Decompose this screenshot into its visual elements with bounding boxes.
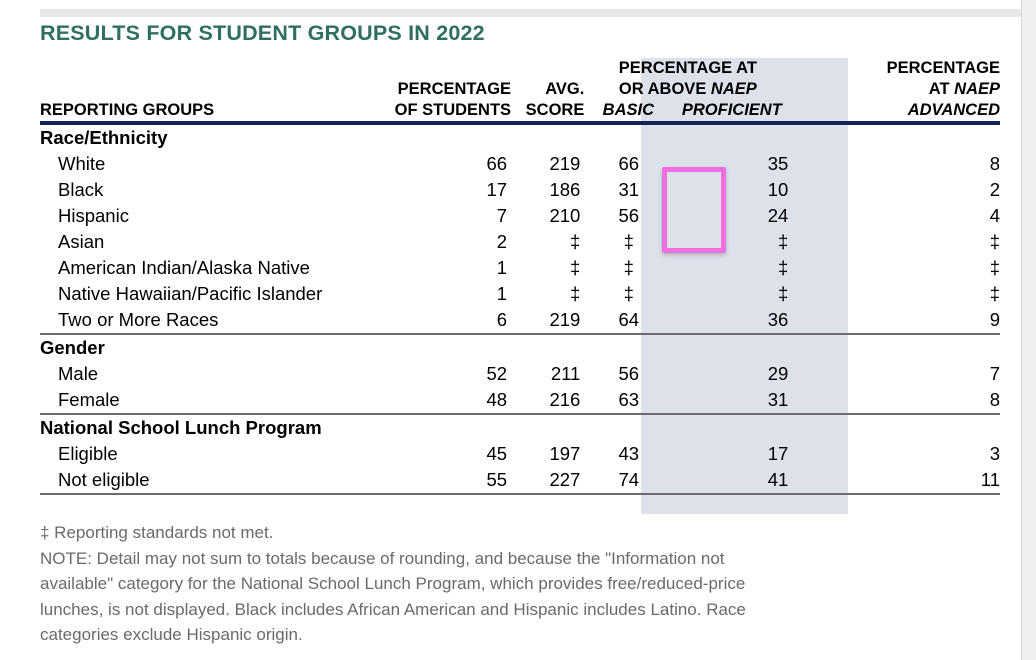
cell-percentage-of-students: 6 xyxy=(395,307,511,333)
note-line-5: categories exclude Hispanic origin. xyxy=(40,622,990,648)
row-label: Asian xyxy=(40,229,395,255)
cell-basic: ‡ xyxy=(584,229,673,255)
col-header-reporting-groups-label: REPORTING GROUPS xyxy=(40,100,395,121)
cell-advanced: 8 xyxy=(793,151,1000,177)
pct-students-line2: OF STUDENTS xyxy=(395,100,511,121)
cell-avg-score: 219 xyxy=(511,151,584,177)
section-header-empty-cell xyxy=(511,123,584,151)
section-header-row: Race/Ethnicity xyxy=(40,123,1000,151)
at-or-above-line2-text: OR ABOVE xyxy=(619,80,706,98)
cell-avg-score: ‡ xyxy=(511,281,584,307)
row-label: Hispanic xyxy=(40,203,395,229)
table-row: Male5221156297 xyxy=(40,361,1000,387)
section-header-empty-cell xyxy=(673,123,793,151)
cell-basic: 63 xyxy=(584,387,673,413)
cell-advanced: 11 xyxy=(793,467,1000,493)
cell-advanced: 3 xyxy=(793,441,1000,467)
cell-avg-score: 216 xyxy=(511,387,584,413)
page-title: RESULTS FOR STUDENT GROUPS IN 2022 xyxy=(40,21,485,46)
col-header-avg-score: AVG. SCORE xyxy=(511,58,584,121)
note-line-3: available" category for the National Sch… xyxy=(40,571,990,597)
header-row: REPORTING GROUPS PERCENTAGE OF STUDENTS … xyxy=(40,58,1000,121)
cell-advanced: 2 xyxy=(793,177,1000,203)
row-label: Not eligible xyxy=(40,467,395,493)
table-row: Two or More Races621964369 xyxy=(40,307,1000,333)
cell-avg-score: 197 xyxy=(511,441,584,467)
naep-italic-1: NAEP xyxy=(711,80,757,98)
table-row: Asian2‡‡‡‡ xyxy=(40,229,1000,255)
advanced-line1: PERCENTAGE xyxy=(793,58,1000,79)
col-header-proficient: PROFICIENT xyxy=(672,100,791,121)
section-header-empty-cell xyxy=(395,334,511,361)
cell-proficient: ‡ xyxy=(673,255,793,281)
section-header-empty-cell xyxy=(584,414,673,441)
col-header-reporting-groups: REPORTING GROUPS xyxy=(40,58,395,121)
note-line-4: lunches, is not displayed. Black include… xyxy=(40,597,990,623)
section-header-row: National School Lunch Program xyxy=(40,414,1000,441)
cell-proficient: 17 xyxy=(673,441,793,467)
table-row: Not eligible55227744111 xyxy=(40,467,1000,493)
col-header-percentage-of-students: PERCENTAGE OF STUDENTS xyxy=(395,58,511,121)
cell-advanced: ‡ xyxy=(793,281,1000,307)
cell-advanced: 9 xyxy=(793,307,1000,333)
section-header-empty-cell xyxy=(511,334,584,361)
cell-advanced: ‡ xyxy=(793,255,1000,281)
cell-avg-score: 210 xyxy=(511,203,584,229)
cell-advanced: 7 xyxy=(793,361,1000,387)
row-label: Male xyxy=(40,361,395,387)
section-label: Gender xyxy=(40,334,395,361)
cell-percentage-of-students: 66 xyxy=(395,151,511,177)
row-label: American Indian/Alaska Native xyxy=(40,255,395,281)
table-row: White6621966358 xyxy=(40,151,1000,177)
section-header-empty-cell xyxy=(673,334,793,361)
naep-italic-2: NAEP xyxy=(954,80,1000,98)
cell-percentage-of-students: 52 xyxy=(395,361,511,387)
cell-percentage-of-students: 2 xyxy=(395,229,511,255)
document-page: RESULTS FOR STUDENT GROUPS IN 2022 REPOR… xyxy=(0,0,1036,660)
section-header-row: Gender xyxy=(40,334,1000,361)
cell-basic: ‡ xyxy=(584,255,673,281)
advanced-line2-text: AT xyxy=(929,80,950,98)
cell-avg-score: 211 xyxy=(511,361,584,387)
cell-basic: 56 xyxy=(584,203,673,229)
cell-advanced: ‡ xyxy=(793,229,1000,255)
cell-proficient: 41 xyxy=(673,467,793,493)
table-body: Race/EthnicityWhite6621966358Black171863… xyxy=(40,123,1000,494)
table-row: Black1718631102 xyxy=(40,177,1000,203)
cell-avg-score: ‡ xyxy=(511,255,584,281)
cell-proficient: ‡ xyxy=(673,281,793,307)
section-header-empty-cell xyxy=(395,123,511,151)
cell-percentage-of-students: 1 xyxy=(395,255,511,281)
note-reporting-standards: ‡ Reporting standards not met. xyxy=(40,520,990,546)
cell-basic: ‡ xyxy=(584,281,673,307)
pct-students-line1: PERCENTAGE xyxy=(395,79,511,100)
cell-percentage-of-students: 45 xyxy=(395,441,511,467)
row-label: White xyxy=(40,151,395,177)
table-header: REPORTING GROUPS PERCENTAGE OF STUDENTS … xyxy=(40,58,1000,123)
row-label: Native Hawaiian/Pacific Islander xyxy=(40,281,395,307)
table-row: Native Hawaiian/Pacific Islander1‡‡‡‡ xyxy=(40,281,1000,307)
avg-score-line1: AVG. xyxy=(511,79,584,100)
clipped-text-above xyxy=(40,0,980,5)
col-header-basic: BASIC xyxy=(584,100,672,121)
cell-percentage-of-students: 48 xyxy=(395,387,511,413)
cell-percentage-of-students: 17 xyxy=(395,177,511,203)
row-label: Two or More Races xyxy=(40,307,395,333)
table-row: American Indian/Alaska Native1‡‡‡‡ xyxy=(40,255,1000,281)
advanced-line2: AT NAEP xyxy=(793,79,1000,100)
row-label: Black xyxy=(40,177,395,203)
page-left-gutter xyxy=(0,0,8,660)
row-label: Eligible xyxy=(40,441,395,467)
page-right-edge xyxy=(1021,0,1036,660)
col-header-at-naep-advanced: PERCENTAGE AT NAEP ADVANCED xyxy=(793,58,1000,121)
section-header-empty-cell xyxy=(793,414,1000,441)
basic-proficient-subheaders: BASICPROFICIENT xyxy=(584,100,791,121)
cell-proficient: 35 xyxy=(673,151,793,177)
col-header-at-or-above-naep: PERCENTAGE AT OR ABOVE NAEP BASICPROFICI… xyxy=(584,58,793,121)
cell-proficient: 24 xyxy=(673,203,793,229)
cell-percentage-of-students: 7 xyxy=(395,203,511,229)
cell-basic: 56 xyxy=(584,361,673,387)
section-header-empty-cell xyxy=(793,123,1000,151)
section-header-empty-cell xyxy=(395,414,511,441)
cell-proficient: ‡ xyxy=(673,229,793,255)
table-bottom-rule xyxy=(40,493,1000,494)
row-label: Female xyxy=(40,387,395,413)
section-label: National School Lunch Program xyxy=(40,414,395,441)
cell-basic: 31 xyxy=(584,177,673,203)
gray-separator-band xyxy=(40,9,1025,17)
section-header-empty-cell xyxy=(584,123,673,151)
avg-score-line2: SCORE xyxy=(511,100,584,121)
cell-basic: 66 xyxy=(584,151,673,177)
table-row: Hispanic721056244 xyxy=(40,203,1000,229)
at-or-above-line1: PERCENTAGE AT xyxy=(584,58,791,79)
cell-advanced: 8 xyxy=(793,387,1000,413)
table-notes: ‡ Reporting standards not met. NOTE: Det… xyxy=(40,520,990,648)
section-header-empty-cell xyxy=(511,414,584,441)
advanced-line3: ADVANCED xyxy=(793,100,1000,121)
table-row: Eligible4519743173 xyxy=(40,441,1000,467)
cell-avg-score: ‡ xyxy=(511,229,584,255)
section-header-empty-cell xyxy=(584,334,673,361)
cell-avg-score: 227 xyxy=(511,467,584,493)
cell-proficient: 36 xyxy=(673,307,793,333)
section-header-empty-cell xyxy=(673,414,793,441)
cell-percentage-of-students: 1 xyxy=(395,281,511,307)
cell-basic: 43 xyxy=(584,441,673,467)
table-row: Female4821663318 xyxy=(40,387,1000,413)
section-label: Race/Ethnicity xyxy=(40,123,395,151)
section-header-empty-cell xyxy=(793,334,1000,361)
note-line-2: NOTE: Detail may not sum to totals becau… xyxy=(40,546,990,572)
cell-basic: 64 xyxy=(584,307,673,333)
cell-proficient: 31 xyxy=(673,387,793,413)
cell-proficient: 29 xyxy=(673,361,793,387)
cell-percentage-of-students: 55 xyxy=(395,467,511,493)
student-groups-table: REPORTING GROUPS PERCENTAGE OF STUDENTS … xyxy=(40,58,1000,495)
cell-basic: 74 xyxy=(584,467,673,493)
at-or-above-line2: OR ABOVE NAEP xyxy=(584,79,791,100)
cell-advanced: 4 xyxy=(793,203,1000,229)
cell-proficient: 10 xyxy=(673,177,793,203)
cell-avg-score: 186 xyxy=(511,177,584,203)
cell-avg-score: 219 xyxy=(511,307,584,333)
